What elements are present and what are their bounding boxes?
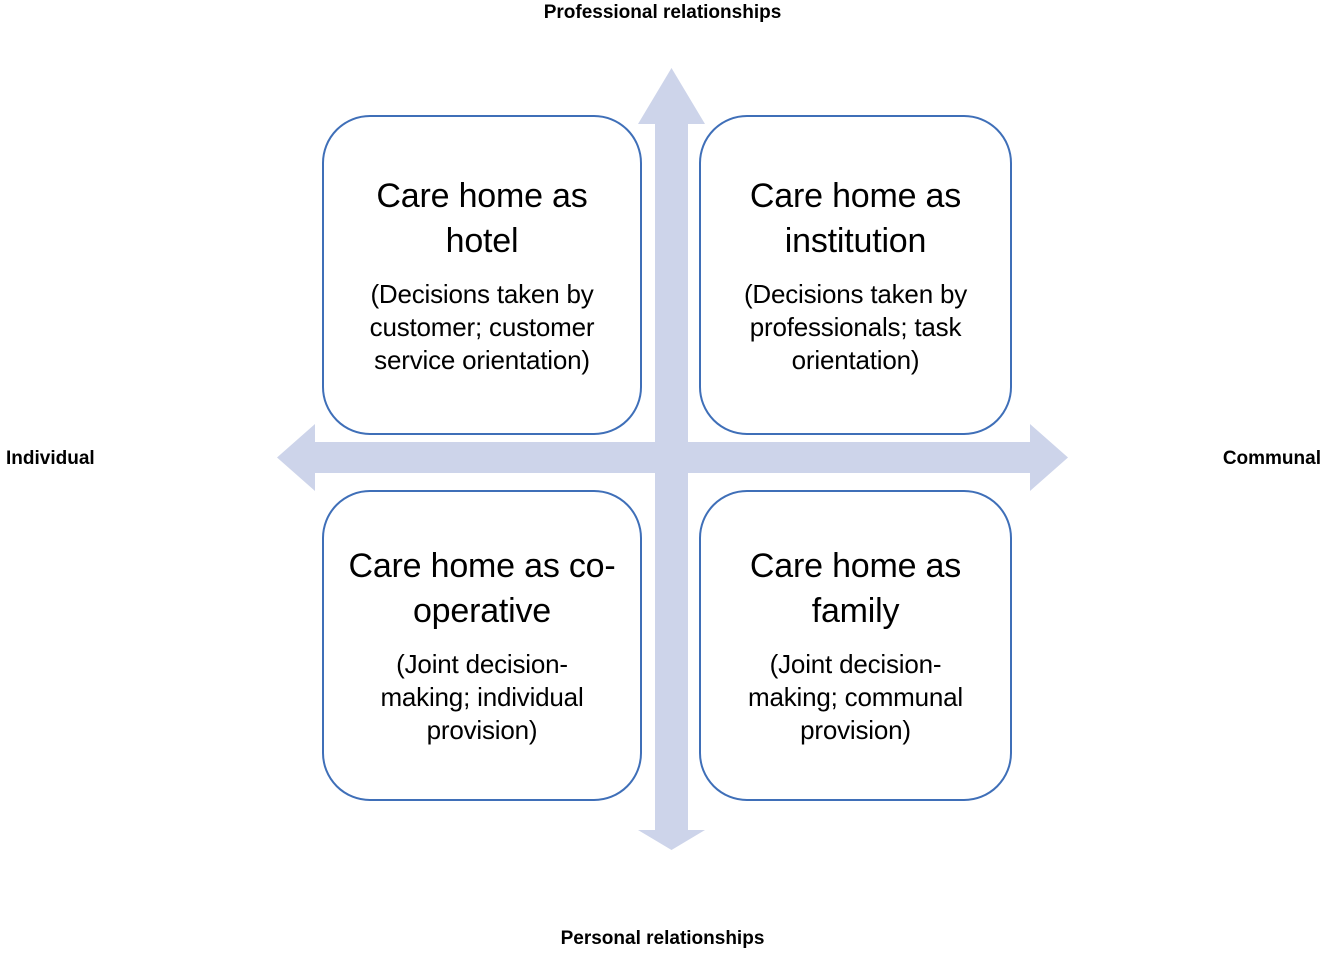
quadrant-box-bottom-right[interactable]: Care home as family (Joint decision-maki… — [699, 490, 1012, 801]
quadrant-title: Care home as hotel — [347, 174, 617, 264]
axis-label-personal-relationships: Personal relationships — [0, 928, 1325, 950]
quadrant-box-top-right[interactable]: Care home as institution (Decisions take… — [699, 115, 1012, 435]
axis-label-communal: Communal — [1223, 448, 1321, 470]
axis-arrows-group — [0, 0, 1325, 954]
quadrant-box-top-left[interactable]: Care home as hotel (Decisions taken by c… — [322, 115, 642, 435]
axis-label-professional-relationships: Professional relationships — [0, 2, 1325, 24]
quadrant-title: Care home as co-operative — [342, 544, 622, 634]
quadrant-description: (Joint decision-making; communal provisi… — [730, 648, 982, 747]
quadrant-title: Care home as institution — [721, 174, 991, 264]
quadrant-title: Care home as family — [731, 544, 981, 634]
quadrant-description: (Decisions taken by professionals; task … — [730, 278, 982, 377]
axis-label-individual: Individual — [6, 448, 95, 470]
quadrant-diagram-canvas: Professional relationships Personal rela… — [0, 0, 1325, 954]
quadrant-description: (Decisions taken by customer; customer s… — [348, 278, 616, 377]
quadrant-description: (Joint decision-making; individual provi… — [357, 648, 607, 747]
quadrant-box-bottom-left[interactable]: Care home as co-operative (Joint decisio… — [322, 490, 642, 801]
double-headed-vertical-arrow-icon — [638, 68, 705, 850]
